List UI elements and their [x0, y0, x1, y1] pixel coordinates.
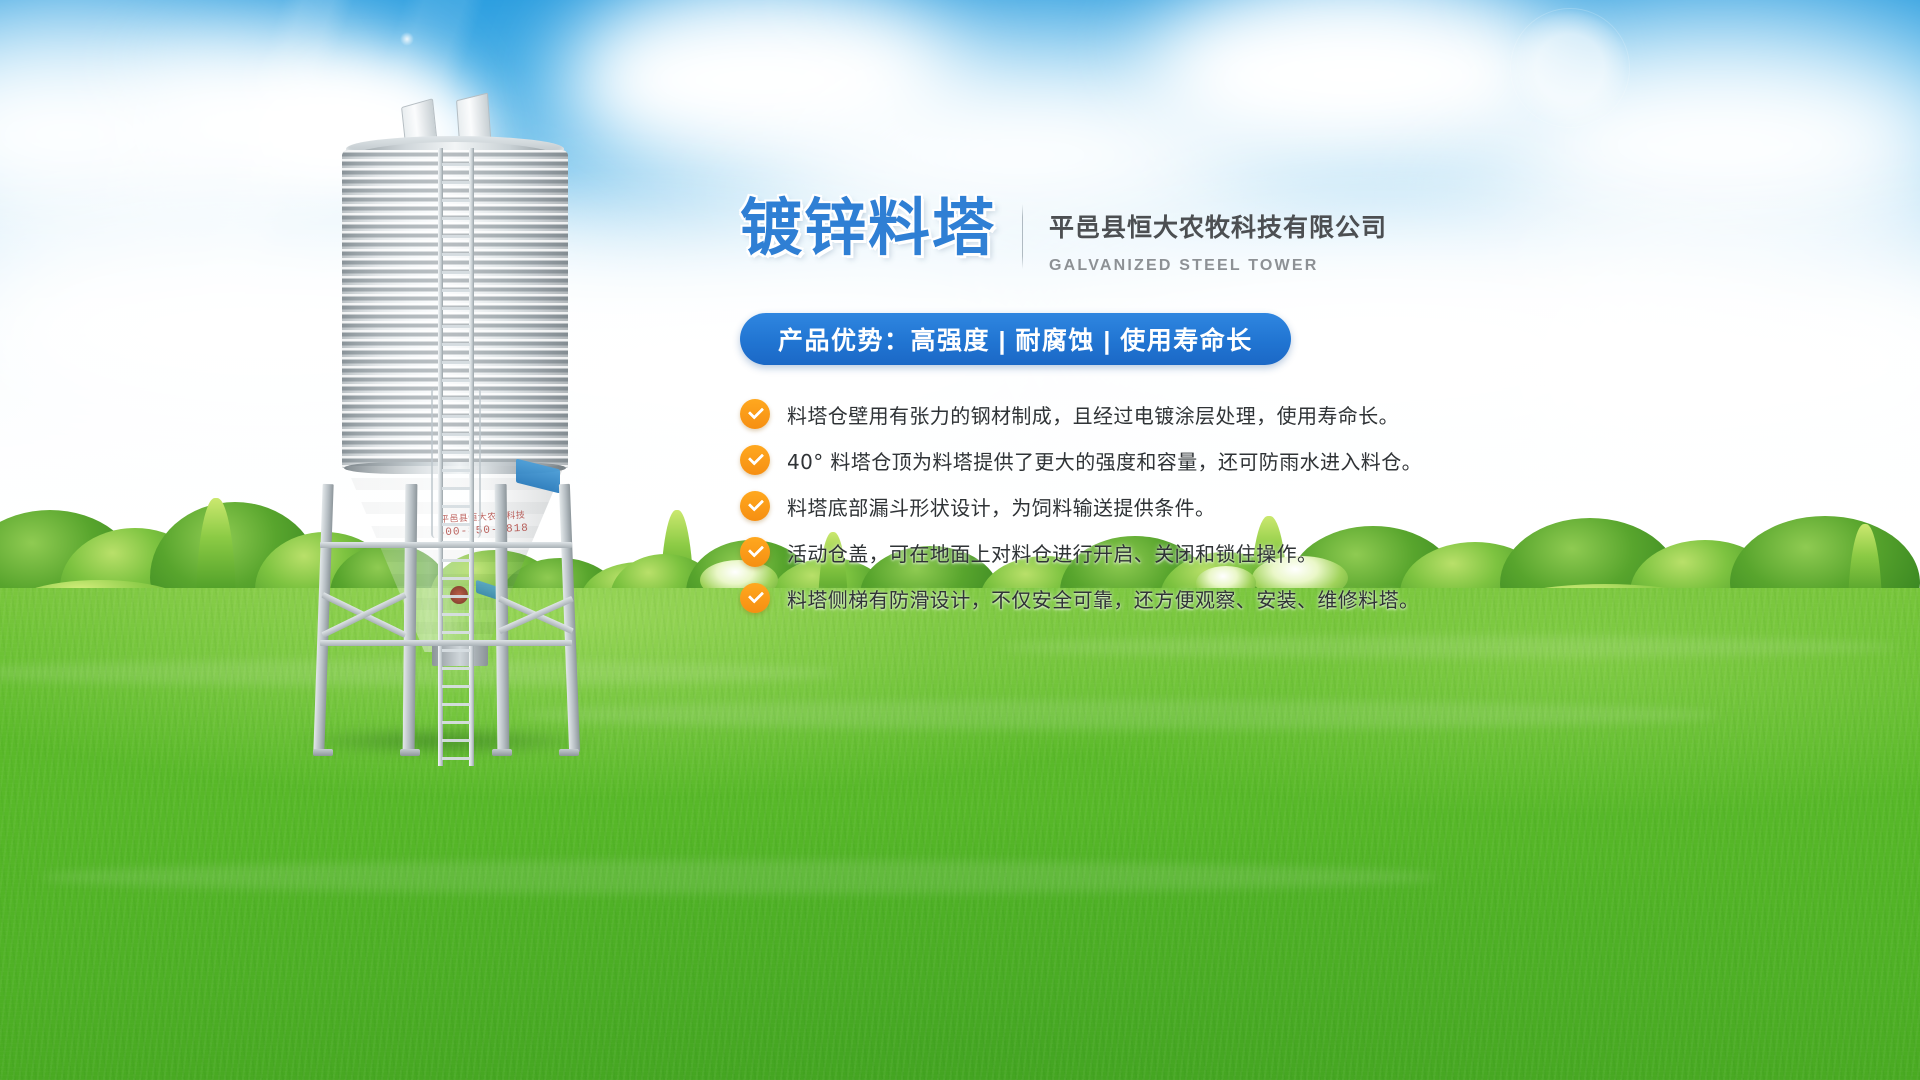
banner-content: 镀锌料塔 平邑县恒大农牧科技有限公司 GALVANIZED STEEL TOWE…: [740, 196, 1860, 629]
silo-side-ladder: [438, 148, 474, 766]
galvanized-feed-silo: 平邑县恒大农牧科技 400-850-8818: [300, 92, 600, 752]
silo-leg-2: [403, 484, 418, 752]
silo-foot-3: [492, 749, 512, 756]
feature-text: 料塔仓壁用有张力的钢材制成，且经过电镀涂层处理，使用寿命长。: [787, 400, 1399, 429]
list-item: 40° 料塔仓顶为料塔提供了更大的强度和容量，还可防雨水进入料仓。: [740, 445, 1860, 475]
company-name: 平邑县恒大农牧科技有限公司: [1049, 208, 1387, 244]
silo-leg-4: [559, 484, 580, 752]
list-item: 料塔仓壁用有张力的钢材制成，且经过电镀涂层处理，使用寿命长。: [740, 399, 1860, 429]
feature-text: 活动仓盖，可在地面上对料仓进行开启、关闭和锁住操作。: [787, 538, 1317, 567]
check-circle-icon: [740, 445, 770, 475]
list-item: 料塔底部漏斗形状设计，为饲料输送提供条件。: [740, 491, 1860, 521]
title-divider: [1022, 204, 1023, 269]
check-circle-icon: [740, 399, 770, 429]
silo-foot-2: [400, 749, 420, 756]
grass-field: [0, 588, 1920, 1080]
feature-list: 料塔仓壁用有张力的钢材制成，且经过电镀涂层处理，使用寿命长。 40° 料塔仓顶为…: [740, 399, 1860, 613]
company-block: 平邑县恒大农牧科技有限公司 GALVANIZED STEEL TOWER: [1049, 196, 1387, 275]
banner-canvas: 平邑县恒大农牧科技 400-850-8818: [0, 0, 1920, 1080]
lens-flare-speck: [400, 32, 414, 46]
check-circle-icon: [740, 537, 770, 567]
ladder-safety-cage: [431, 388, 481, 538]
silo-leg-1: [313, 484, 333, 752]
silo-foot-1: [313, 749, 333, 756]
feature-text: 料塔侧梯有防滑设计，不仅安全可靠，还方便观察、安装、维修料塔。: [787, 584, 1419, 613]
page-title: 镀锌料塔: [740, 196, 996, 260]
advantage-badge: 产品优势：高强度 | 耐腐蚀 | 使用寿命长: [740, 313, 1291, 365]
list-item: 料塔侧梯有防滑设计，不仅安全可靠，还方便观察、安装、维修料塔。: [740, 583, 1860, 613]
silo-foot-4: [559, 749, 579, 756]
list-item: 活动仓盖，可在地面上对料仓进行开启、关闭和锁住操作。: [740, 537, 1860, 567]
silo-horizontal-tie-upper: [320, 542, 572, 548]
feature-text: 料塔底部漏斗形状设计，为饲料输送提供条件。: [787, 492, 1215, 521]
check-circle-icon: [740, 583, 770, 613]
feature-text: 40° 料塔仓顶为料塔提供了更大的强度和容量，还可防雨水进入料仓。: [787, 446, 1422, 475]
english-subtitle: GALVANIZED STEEL TOWER: [1049, 257, 1387, 275]
silo-horizontal-tie-lower: [320, 640, 572, 646]
title-block: 镀锌料塔 平邑县恒大农牧科技有限公司 GALVANIZED STEEL TOWE…: [740, 196, 1860, 275]
check-circle-icon: [740, 491, 770, 521]
sun-flare: [1510, 8, 1630, 128]
